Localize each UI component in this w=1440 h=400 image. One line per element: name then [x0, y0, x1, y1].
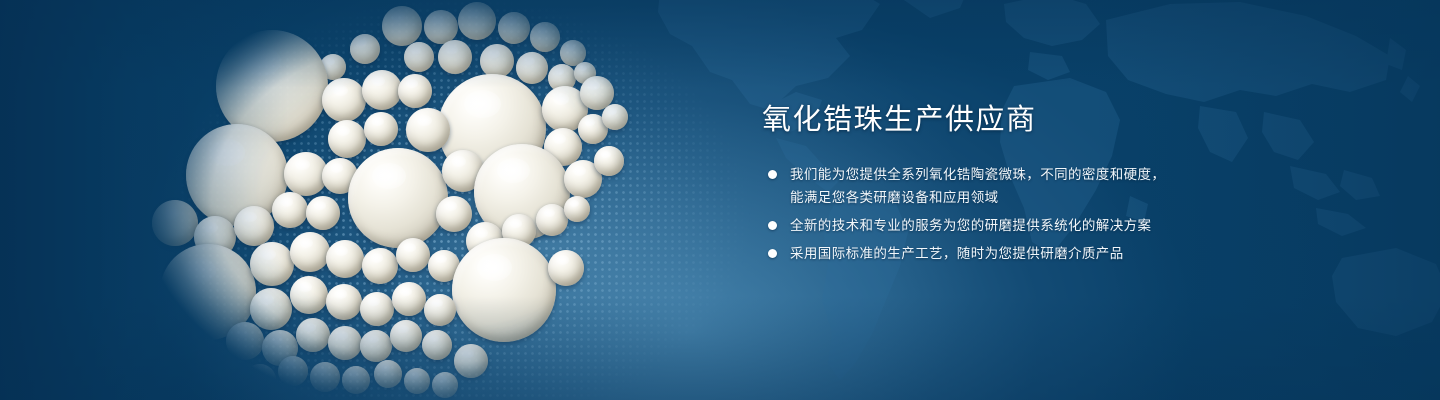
filled-circle-bullet-icon [768, 170, 777, 179]
page-title: 氧化锆珠生产供应商 [762, 104, 1282, 137]
filled-circle-bullet-icon [768, 221, 777, 230]
list-item-label-continued: 能满足您各类研磨设备和应用领域 [790, 186, 1282, 209]
hero-banner: 氧化锆珠生产供应商 我们能为您提供全系列氧化锆陶瓷微珠，不同的密度和硬度， 能满… [0, 0, 1440, 400]
list-item-label: 全新的技术和专业的服务为您的研磨提供系统化的解决方案 [790, 214, 1282, 237]
list-item: 采用国际标准的生产工艺，随时为您提供研磨介质产品 [762, 242, 1282, 265]
list-item-label: 我们能为您提供全系列氧化锆陶瓷微珠，不同的密度和硬度， [790, 163, 1282, 186]
banner-copy: 氧化锆珠生产供应商 我们能为您提供全系列氧化锆陶瓷微珠，不同的密度和硬度， 能满… [762, 104, 1282, 265]
filled-circle-bullet-icon [768, 249, 777, 258]
list-item-label: 采用国际标准的生产工艺，随时为您提供研磨介质产品 [790, 242, 1282, 265]
list-item: 我们能为您提供全系列氧化锆陶瓷微珠，不同的密度和硬度， 能满足您各类研磨设备和应… [762, 163, 1282, 209]
list-item: 全新的技术和专业的服务为您的研磨提供系统化的解决方案 [762, 214, 1282, 237]
feature-list: 我们能为您提供全系列氧化锆陶瓷微珠，不同的密度和硬度， 能满足您各类研磨设备和应… [762, 163, 1282, 265]
